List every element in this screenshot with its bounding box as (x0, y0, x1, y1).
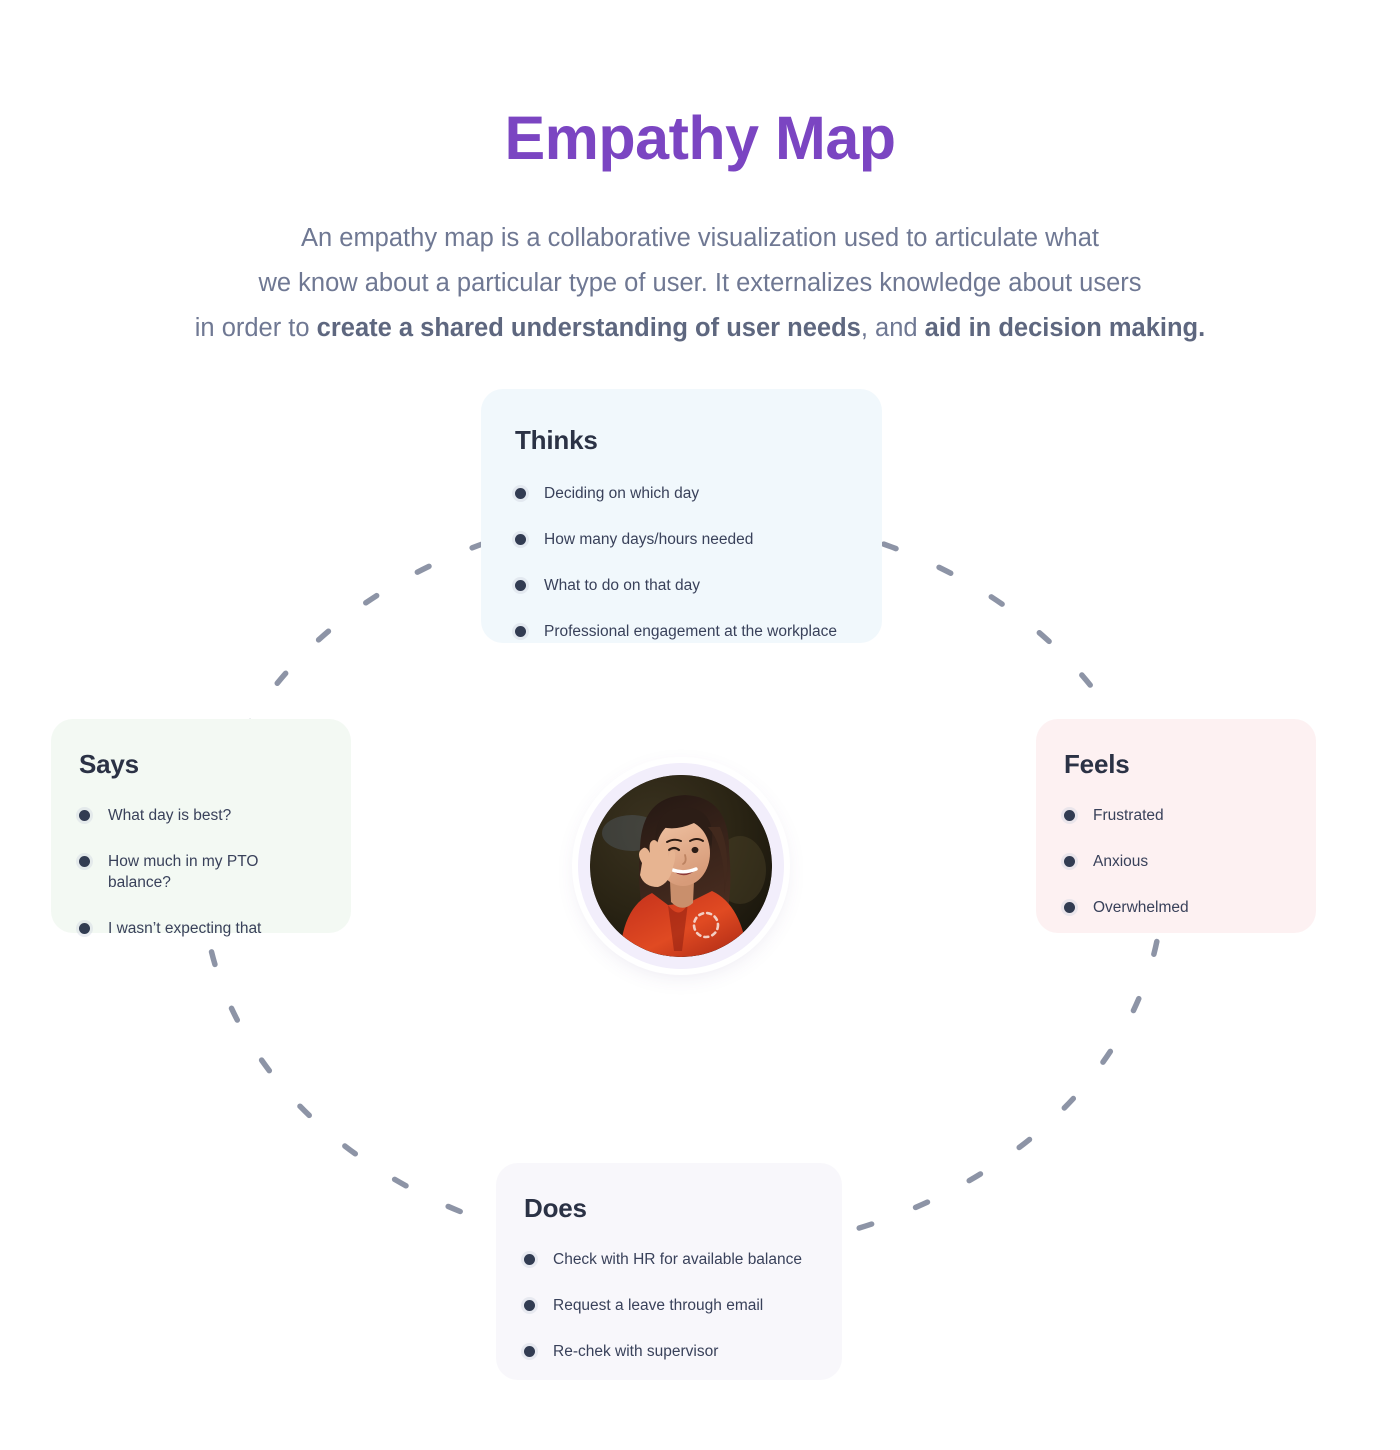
bullet-icon (515, 580, 526, 591)
quadrant-card-does[interactable]: Does Check with HR for available balance… (496, 1163, 842, 1380)
card-title-feels: Feels (1064, 749, 1288, 780)
bullet-icon (1064, 856, 1075, 867)
avatar (590, 775, 772, 957)
quadrant-card-thinks[interactable]: Thinks Deciding on which day How many da… (481, 389, 882, 643)
list-item: Frustrated (1064, 806, 1288, 827)
list-item-label: Frustrated (1093, 806, 1164, 827)
list-item-label: What to do on that day (544, 576, 700, 597)
card-list-says: What day is best? How much in my PTO bal… (79, 806, 323, 940)
list-item: What day is best? (79, 806, 323, 827)
bullet-icon (1064, 810, 1075, 821)
list-item: How much in my PTO balance? (79, 852, 323, 894)
list-item-label: I wasn’t expecting that (108, 919, 261, 940)
card-list-feels: Frustrated Anxious Overwhelmed (1064, 806, 1288, 919)
list-item-label: How much in my PTO balance? (108, 852, 323, 894)
list-item: Deciding on which day (515, 484, 848, 505)
card-list-does: Check with HR for available balance Requ… (524, 1250, 814, 1363)
bullet-icon (515, 534, 526, 545)
list-item: Re-chek with supervisor (524, 1342, 814, 1363)
list-item: How many days/hours needed (515, 530, 848, 551)
bullet-icon (515, 626, 526, 637)
list-item: What to do on that day (515, 576, 848, 597)
bullet-icon (515, 488, 526, 499)
list-item: Request a leave through email (524, 1296, 814, 1317)
list-item-label: Check with HR for available balance (553, 1250, 802, 1271)
page-description: An empathy map is a collaborative visual… (0, 216, 1400, 351)
card-title-says: Says (79, 749, 323, 780)
avatar-portrait-illustration (590, 775, 772, 957)
desc-emphasis-2: aid in decision making. (925, 314, 1206, 342)
card-title-thinks: Thinks (515, 425, 848, 456)
list-item-label: Overwhelmed (1093, 898, 1189, 919)
empathy-map-page: Empathy Map An empathy map is a collabor… (0, 0, 1400, 1450)
page-title: Empathy Map (0, 105, 1400, 172)
page-description-line-1: An empathy map is a collaborative visual… (0, 216, 1400, 261)
bullet-icon (79, 856, 90, 867)
list-item: Check with HR for available balance (524, 1250, 814, 1271)
page-description-line-2: we know about a particular type of user.… (0, 261, 1400, 306)
bullet-icon (524, 1254, 535, 1265)
list-item-label: Anxious (1093, 852, 1148, 873)
card-list-thinks: Deciding on which day How many days/hour… (515, 484, 848, 643)
desc-prefix: in order to (195, 314, 317, 342)
desc-emphasis-1: create a shared understanding of user ne… (317, 314, 861, 342)
list-item-label: Professional engagement at the workplace (544, 622, 837, 643)
quadrant-card-says[interactable]: Says What day is best? How much in my PT… (51, 719, 351, 933)
list-item-label: Re-chek with supervisor (553, 1342, 718, 1363)
bullet-icon (524, 1346, 535, 1357)
bullet-icon (1064, 902, 1075, 913)
list-item-label: Request a leave through email (553, 1296, 763, 1317)
list-item: Overwhelmed (1064, 898, 1288, 919)
list-item-label: What day is best? (108, 806, 231, 827)
list-item: Professional engagement at the workplace (515, 622, 848, 643)
page-description-line-3: in order to create a shared understandin… (0, 306, 1400, 351)
list-item-label: How many days/hours needed (544, 530, 753, 551)
list-item: Anxious (1064, 852, 1288, 873)
bullet-icon (79, 810, 90, 821)
center-avatar-ring (578, 763, 784, 969)
bullet-icon (79, 923, 90, 934)
list-item: I wasn’t expecting that (79, 919, 323, 940)
bullet-icon (524, 1300, 535, 1311)
desc-mid: , and (861, 314, 925, 342)
list-item-label: Deciding on which day (544, 484, 699, 505)
quadrant-card-feels[interactable]: Feels Frustrated Anxious Overwhelmed (1036, 719, 1316, 933)
card-title-does: Does (524, 1193, 814, 1224)
